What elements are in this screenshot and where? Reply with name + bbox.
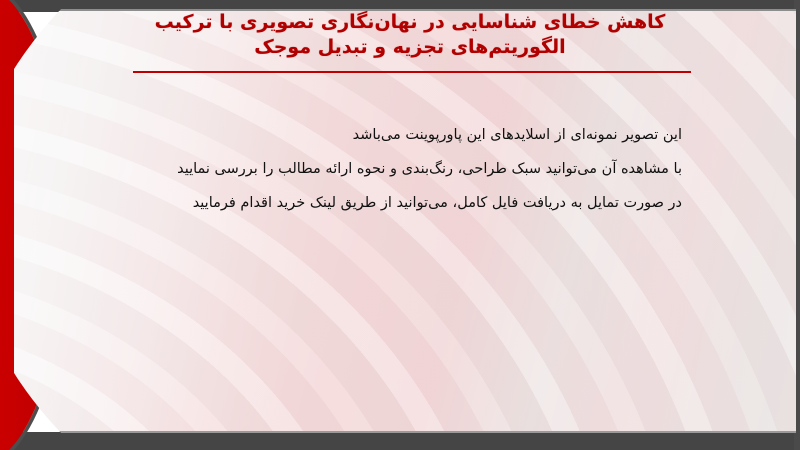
slide-title: کاهش خطای شناسایی در نهان‌نگاری تصویری ب… xyxy=(120,10,700,60)
body-line-2: با مشاهده آن می‌توانید سبک طراحی، رنگ‌بن… xyxy=(122,152,682,186)
title-divider-rule xyxy=(133,71,691,73)
body-line-3: در صورت تمایل به دریافت فایل کامل، می‌تو… xyxy=(122,186,682,220)
slide-body-text: این تصویر نمونه‌ای از اسلایدهای این پاور… xyxy=(122,118,682,220)
slide-title-line-2: الگوریتم‌های تجزیه و تبدیل موجک xyxy=(120,35,700,60)
slide-canvas: کاهش خطای شناسایی در نهان‌نگاری تصویری ب… xyxy=(0,0,800,450)
background-arc-bands xyxy=(14,11,796,431)
slide-title-line-1: کاهش خطای شناسایی در نهان‌نگاری تصویری ب… xyxy=(120,10,700,35)
body-line-1: این تصویر نمونه‌ای از اسلایدهای این پاور… xyxy=(122,118,682,152)
slide-frame-bottom-band xyxy=(0,432,800,450)
background-sheen-overlay xyxy=(14,11,796,431)
